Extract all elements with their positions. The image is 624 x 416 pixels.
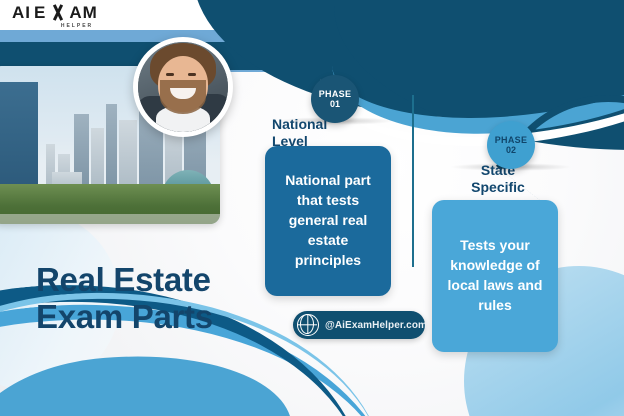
- avatar-eye-left: [166, 73, 174, 76]
- logo-text-am: AM: [69, 4, 97, 21]
- page-title-line-2: Exam Parts: [36, 299, 213, 336]
- phase-2-label: State Specific: [438, 162, 558, 195]
- phase-1-badge-number: 01: [330, 99, 340, 109]
- phase-1-card-text: National part that tests general real es…: [275, 171, 381, 270]
- infographic-canvas: AI E AM HELPER Rea: [0, 0, 624, 416]
- globe-icon: [297, 314, 319, 336]
- photo-building: [119, 120, 137, 188]
- phase-1-label-line-2: Level: [272, 133, 327, 150]
- phase-1-badge[interactable]: PHASE 01: [311, 75, 359, 123]
- phase-1-card[interactable]: National part that tests general real es…: [265, 146, 391, 296]
- website-badge[interactable]: @AiExamHelper.com: [293, 311, 425, 339]
- phase-1-label-line-1: National: [272, 116, 327, 133]
- logo-text-e: E: [34, 4, 46, 21]
- brand-logo-wordmark: AI E AM: [12, 4, 132, 21]
- phase-2-badge-word: PHASE: [495, 135, 528, 145]
- website-handle: @AiExamHelper.com: [325, 320, 427, 331]
- logo-text-ai: AI: [12, 4, 31, 21]
- photo-building: [0, 82, 38, 186]
- phase-2-card-text: Tests your knowledge of local laws and r…: [442, 236, 548, 316]
- logo-subtitle: HELPER: [22, 23, 132, 29]
- page-title-line-1: Real Estate: [36, 262, 213, 299]
- column-divider: [412, 95, 414, 267]
- x-mark-icon: [49, 4, 66, 21]
- phase-1-label: National Level: [272, 116, 327, 149]
- brand-logo[interactable]: AI E AM HELPER: [12, 4, 132, 34]
- photo-building: [106, 104, 117, 188]
- page-title: Real Estate Exam Parts: [36, 262, 213, 336]
- phase-1-badge-word: PHASE: [319, 89, 352, 99]
- avatar-eye-right: [188, 73, 196, 76]
- phase-2-card[interactable]: Tests your knowledge of local laws and r…: [432, 200, 558, 352]
- phase-2-badge[interactable]: PHASE 02: [487, 121, 535, 169]
- phase-2-badge-number: 02: [506, 145, 516, 155]
- phase-2-label-line-2: Specific: [438, 179, 558, 196]
- photo-building: [91, 128, 104, 188]
- photo-treeline: [0, 184, 220, 224]
- presenter-avatar: [133, 37, 233, 137]
